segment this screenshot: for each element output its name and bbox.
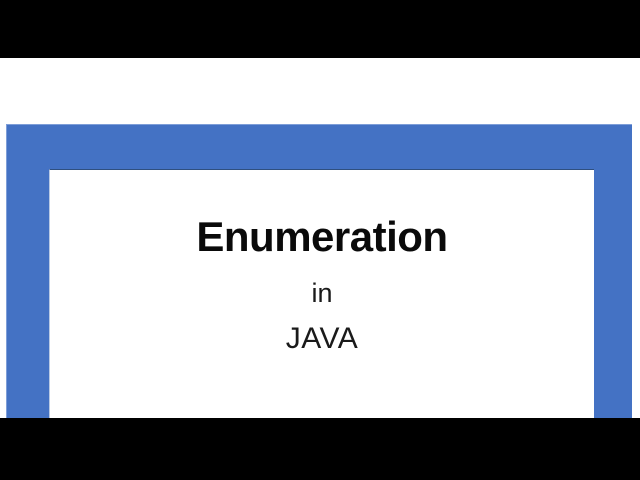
slide-title-main: Enumeration bbox=[196, 216, 447, 258]
slide-title-connector: in bbox=[311, 280, 332, 307]
letterbox-bar-bottom bbox=[0, 418, 640, 480]
slide-content-card: Enumeration in JAVA bbox=[49, 169, 594, 425]
slide-panel: Enumeration in JAVA Only 2 Points for On… bbox=[6, 124, 632, 465]
video-frame: Enumeration in JAVA Only 2 Points for On… bbox=[0, 0, 640, 480]
slide-title-subject: JAVA bbox=[286, 324, 359, 354]
slide-page-background: Enumeration in JAVA Only 2 Points for On… bbox=[0, 58, 640, 418]
letterbox-bar-top bbox=[0, 0, 640, 58]
